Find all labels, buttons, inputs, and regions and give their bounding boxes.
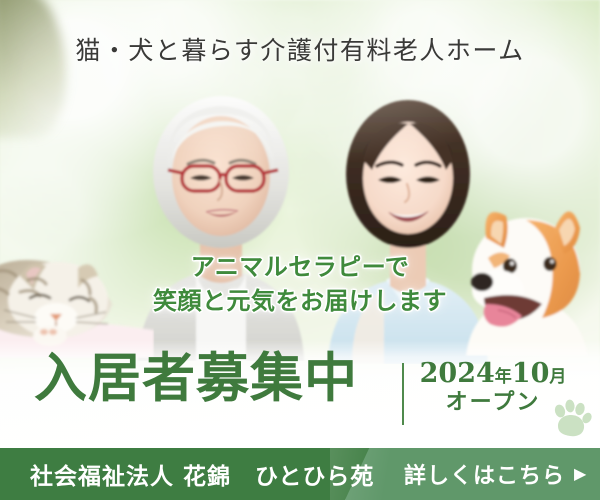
opening-date-line: 2024年10月	[418, 358, 568, 389]
catch-copy-line-1: アニマルセラピーで	[191, 253, 410, 281]
catch-copy: アニマルセラピーで 笑顔と元気をお届けします	[0, 250, 600, 318]
opening-month: 10	[512, 358, 550, 389]
details-link-button[interactable]: 詳しくはこちら ▶	[404, 448, 587, 500]
vertical-divider	[402, 363, 404, 425]
opening-date-block: 2024年10月 オープン	[418, 358, 568, 417]
chevron-right-icon: ▶	[574, 466, 587, 482]
opening-month-unit: 月	[549, 367, 566, 387]
opening-year-unit: 年	[495, 367, 512, 387]
organization-name: 社会福祉法人 花錦 ひとひら苑	[30, 448, 374, 500]
recruit-headline: 入居者募集中	[34, 352, 358, 405]
paw-print-icon	[551, 398, 593, 438]
opening-label: オープン	[418, 389, 568, 417]
opening-year: 2024	[420, 358, 495, 389]
catch-copy-line-2: 笑顔と元気をお届けします	[0, 284, 600, 318]
details-link-label: 詳しくはこちら	[404, 458, 565, 490]
headline-text: 猫・犬と暮らす介護付有料老人ホーム	[0, 31, 600, 67]
senior-home-advertisement-banner: 猫・犬と暮らす介護付有料老人ホーム アニマルセラピーで 笑顔と元気をお届けします…	[0, 0, 600, 500]
footer-bar: 社会福祉法人 花錦 ひとひら苑 詳しくはこちら ▶	[0, 448, 600, 500]
